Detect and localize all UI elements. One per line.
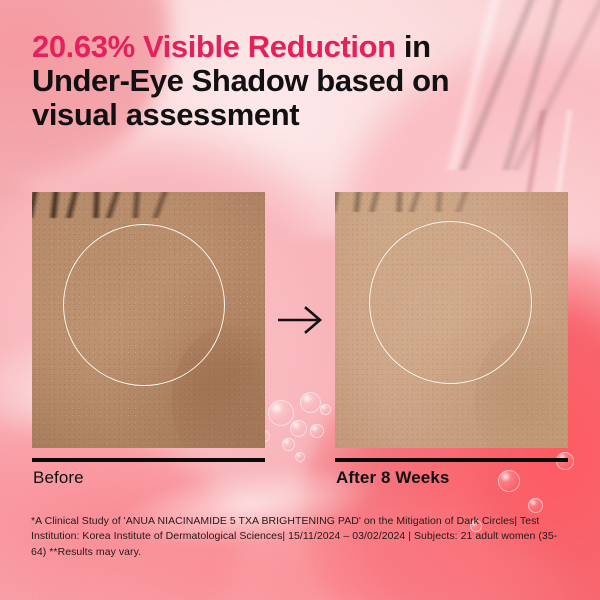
footnote: *A Clinical Study of 'ANUA NIACINAMIDE 5… <box>31 514 571 560</box>
headline-stat: 20.63% Visible Reduction <box>32 29 396 64</box>
bubble <box>498 470 520 492</box>
arrow-right-icon <box>276 303 324 337</box>
after-divider <box>335 458 568 462</box>
bubble <box>320 404 331 415</box>
bubble <box>295 452 305 462</box>
bubble <box>300 392 321 413</box>
bubble <box>268 400 294 426</box>
headline: 20.63% Visible Reduction in Under-Eye Sh… <box>32 30 572 132</box>
bubble <box>310 424 324 438</box>
footnote-line2: Institution: Korea Institute of Dermatol… <box>31 530 535 542</box>
eyebrow-hair <box>32 192 265 218</box>
headline-line1-rest: in <box>396 29 431 64</box>
ad-creative: 20.63% Visible Reduction in Under-Eye Sh… <box>0 0 600 600</box>
after-caption: After 8 Weeks <box>336 468 449 488</box>
bubble <box>282 438 295 451</box>
footnote-line1: *A Clinical Study of 'ANUA NIACINAMIDE 5… <box>31 515 539 527</box>
headline-line2: Under-Eye Shadow based on <box>32 63 449 98</box>
before-divider <box>32 458 265 462</box>
bubble <box>290 420 307 437</box>
before-photo <box>32 192 265 448</box>
headline-line3: visual assessment <box>32 97 299 132</box>
before-caption: Before <box>33 468 84 488</box>
circle-highlight-icon <box>369 221 532 384</box>
circle-highlight-icon <box>63 224 225 386</box>
after-photo <box>335 192 568 448</box>
eyebrow-hair <box>335 192 568 212</box>
bubble <box>528 498 543 513</box>
